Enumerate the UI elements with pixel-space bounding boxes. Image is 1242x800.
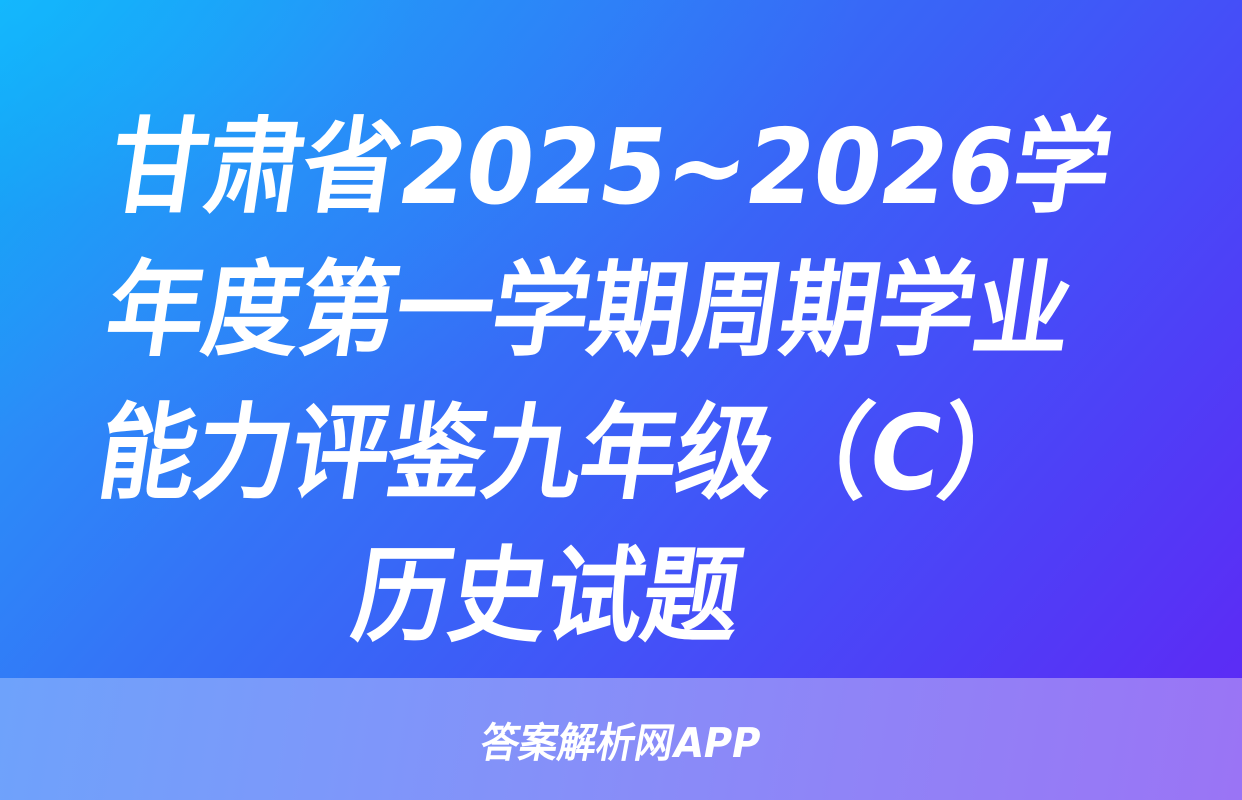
poster-canvas: 甘肃省2025~2026学年度第一学期周期学业能力评鉴九年级（C）历史试题 答案… — [0, 0, 1242, 800]
page-title: 甘肃省2025~2026学年度第一学期周期学业能力评鉴九年级（C）历史试题 — [35, 96, 1122, 668]
title-area: 甘肃省2025~2026学年度第一学期周期学业能力评鉴九年级（C）历史试题 — [0, 96, 1242, 678]
footer-brand-bar: 答案解析网APP — [0, 678, 1242, 800]
brand-label: 答案解析网APP — [476, 709, 766, 769]
